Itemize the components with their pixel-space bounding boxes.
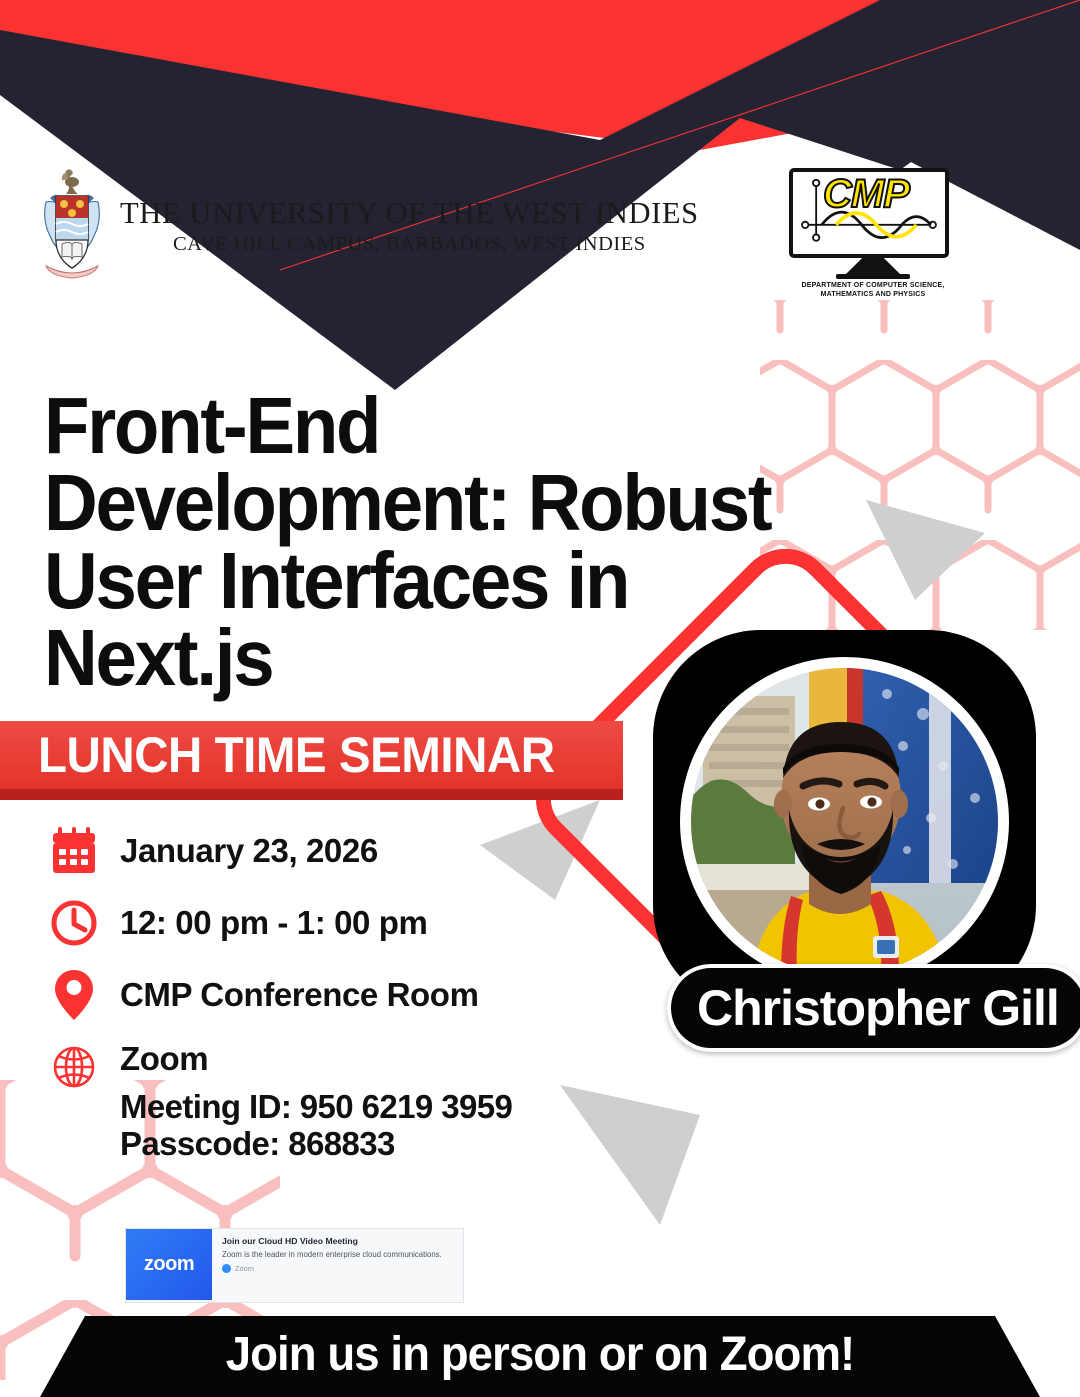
seminar-poster: THE UNIVERSITY OF THE WEST INDIES CAVE H… <box>0 0 1080 1397</box>
bottom-banner-text: Join us in person or on Zoom! <box>27 1316 1053 1397</box>
zoom-meeting-id: Meeting ID: 950 6219 3959 <box>120 1089 512 1126</box>
online-meeting-block: Zoom Meeting ID: 950 6219 3959 Passcode:… <box>120 1041 512 1163</box>
detail-row-location: CMP Conference Room <box>48 969 568 1021</box>
speaker-name: Christopher Gill <box>697 979 1059 1037</box>
event-time: 12: 00 pm - 1: 00 pm <box>120 904 427 942</box>
uwi-logo-lockup: THE UNIVERSITY OF THE WEST INDIES CAVE H… <box>38 168 699 286</box>
cmp-department-logo: CMP DEPARTMENT OF COMPUTER SCIENCE, MATH… <box>789 168 957 300</box>
online-platform-name: Zoom <box>120 1041 512 1077</box>
cmp-wordmark: CMP <box>823 174 909 214</box>
detail-row-online: Zoom Meeting ID: 950 6219 3959 Passcode:… <box>48 1041 568 1163</box>
cmp-department-caption: DEPARTMENT OF COMPUTER SCIENCE, MATHEMAT… <box>789 282 957 299</box>
zoom-card-source-row: Zoom <box>222 1264 455 1273</box>
zoom-card-title: Join our Cloud HD Video Meeting <box>222 1236 455 1247</box>
seminar-banner-shadow <box>0 789 623 800</box>
monitor-stand <box>846 258 900 274</box>
event-location: CMP Conference Room <box>120 976 479 1014</box>
uwi-text-block: THE UNIVERSITY OF THE WEST INDIES CAVE H… <box>120 197 699 257</box>
zoom-link-preview-card[interactable]: zoom Join our Cloud HD Video Meeting Zoo… <box>125 1228 464 1303</box>
detail-row-date: January 23, 2026 <box>48 825 568 877</box>
zoom-passcode: Passcode: 868833 <box>120 1126 512 1163</box>
bottom-banner: Join us in person or on Zoom! <box>0 1316 1080 1397</box>
zoom-wordmark: zoom <box>144 1253 194 1276</box>
campus-name: CAVE HILL CAMPUS, BARBADOS, WEST INDIES <box>120 232 699 257</box>
zoom-card-description: Zoom is the leader in modern enterprise … <box>222 1250 455 1261</box>
monitor-icon: CMP <box>789 168 949 258</box>
calendar-icon <box>48 825 100 877</box>
detail-row-time: 12: 00 pm - 1: 00 pm <box>48 897 568 949</box>
monitor-base <box>836 274 910 279</box>
event-date: January 23, 2026 <box>120 832 378 870</box>
speaker-name-badge: Christopher Gill <box>667 964 1080 1052</box>
zoom-card-source-label: Zoom <box>235 1264 254 1273</box>
uwi-coat-of-arms-icon <box>38 168 106 286</box>
map-pin-icon <box>48 969 100 1021</box>
university-name: THE UNIVERSITY OF THE WEST INDIES <box>120 197 699 230</box>
header-logos: THE UNIVERSITY OF THE WEST INDIES CAVE H… <box>0 160 1080 310</box>
zoom-logo-thumbnail: zoom <box>126 1229 212 1300</box>
seminar-banner-label: LUNCH TIME SEMINAR <box>38 725 589 785</box>
zoom-card-body: Join our Cloud HD Video Meeting Zoom is … <box>212 1229 463 1302</box>
event-details-list: January 23, 2026 12: 00 pm - 1: 00 pm CM… <box>48 825 568 1169</box>
clock-icon <box>48 897 100 949</box>
speaker-block: Christopher Gill <box>631 598 1056 1098</box>
globe-icon <box>48 1041 100 1093</box>
speaker-portrait-photo <box>691 668 998 975</box>
zoom-favicon-icon <box>222 1264 231 1273</box>
